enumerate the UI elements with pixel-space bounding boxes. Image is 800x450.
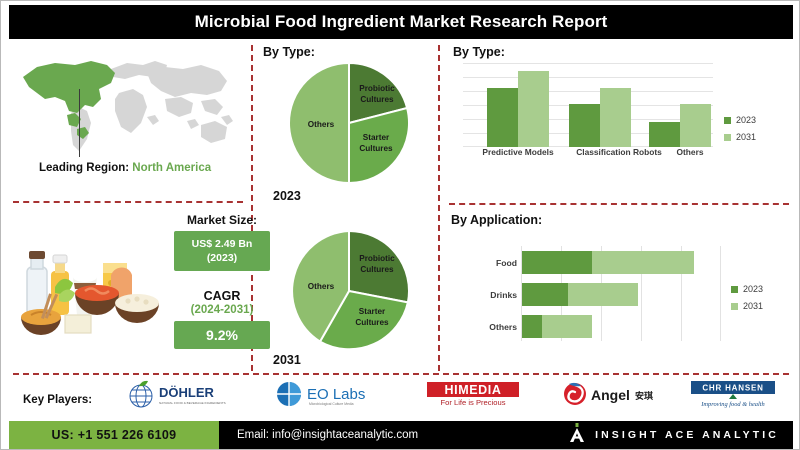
logo-angel-name: Angel	[591, 387, 630, 403]
logo-eo-labs-tagline: Microbiological Culture Media	[309, 402, 354, 406]
bar-classification-robots-2031	[600, 88, 631, 147]
hbar-others-2023	[522, 315, 542, 338]
logo-dohler-tagline: NATURAL FOOD & BEVERAGE INGREDIENTS	[159, 401, 226, 405]
market-size-value-box: US$ 2.49 Bn (2023)	[174, 231, 270, 271]
leading-region: Leading Region: North America	[39, 161, 249, 175]
section-heading-by-type-pie: By Type:	[263, 45, 315, 59]
hbar-category-others: Others	[489, 322, 517, 332]
logo-angel: Angel 安琪	[561, 381, 669, 407]
bar-category-others: Others	[665, 147, 715, 157]
pie-2031-label-others: Others	[308, 282, 335, 291]
bar-others-2031	[680, 104, 711, 147]
legend-label-2031: 2031	[736, 132, 756, 142]
legend-item-2023: 2023	[724, 115, 756, 125]
hbar-food-2031	[592, 251, 694, 274]
brand-name: INSIGHT ACE ANALYTIC	[595, 429, 779, 441]
section-heading-by-application: By Application:	[451, 213, 542, 227]
logo-chr-hansen-tagline: Improving food & health	[700, 401, 765, 408]
key-players-label: Key Players:	[23, 394, 92, 406]
hbar-others-2031	[542, 315, 592, 338]
logo-dohler-name: DÖHLER	[159, 385, 215, 400]
market-size-year: (2023)	[207, 251, 237, 265]
divider-horizontal-left	[13, 201, 243, 203]
leading-region-label: Leading Region:	[39, 162, 129, 174]
bar-classification-robots-2023	[569, 104, 600, 147]
hbar-chart-legend: 2023 2031	[731, 284, 763, 318]
legend-swatch-2023-application	[731, 286, 738, 293]
divider-horizontal-bottom	[13, 373, 789, 375]
section-heading-by-type-bar: By Type:	[453, 45, 505, 59]
logo-angel-tagline: 安琪	[635, 390, 653, 401]
legend-item-2023-application: 2023	[731, 284, 763, 294]
pie-2031-label-starter-2: Cultures	[355, 318, 389, 327]
pie-chart-2031: Probiotic Cultures Starter Cultures Othe…	[287, 229, 411, 353]
legend-item-2031-application: 2031	[731, 301, 763, 311]
legend-label-2023-application: 2023	[743, 284, 763, 294]
page-title: Microbial Food Ingredient Market Researc…	[195, 12, 608, 32]
divider-vertical-right	[438, 45, 440, 371]
bar-category-predictive-models: Predictive Models	[463, 147, 573, 157]
logo-chr-hansen: CHR HANSEN Improving food & health	[685, 379, 785, 409]
pie-2023-label-starter-2: Cultures	[359, 144, 393, 153]
hbar-drinks-2023	[522, 283, 568, 306]
logo-himedia: HIMEDIA For Life is Precious	[425, 379, 525, 409]
bar-chart-by-type	[463, 63, 713, 147]
footer-email-bar: Email: info@insightaceanalytic.com INSIG…	[219, 421, 793, 449]
bar-category-classification-robots: Classification Robots	[559, 147, 679, 157]
logo-chr-hansen-name: CHR HANSEN	[702, 384, 763, 393]
bar-predictive-models-2023	[487, 88, 518, 147]
divider-horizontal-right	[449, 203, 789, 205]
logo-eo-labs-name: EO Labs	[307, 386, 365, 403]
hbar-category-labels: Food Drinks Others	[459, 246, 517, 341]
legend-item-2031: 2031	[724, 132, 756, 142]
pie-2031-label-probiotic-2: Cultures	[360, 265, 394, 274]
hbar-category-drinks: Drinks	[490, 290, 517, 300]
logo-himedia-name: HIMEDIA	[445, 383, 502, 397]
hbar-food-2023	[522, 251, 592, 274]
bar-predictive-models-2031	[518, 71, 549, 147]
market-size-value: US$ 2.49 Bn	[192, 237, 253, 251]
insight-ace-logo-icon	[569, 423, 586, 448]
bar-chart-by-application	[521, 246, 721, 341]
pie-2031-year: 2031	[273, 353, 301, 367]
cagr-value: 9.2%	[206, 327, 238, 343]
bar-chart-legend: 2023 2031	[724, 115, 756, 149]
cagr-years: (2024-2031)	[169, 304, 275, 316]
legend-label-2031-application: 2031	[743, 301, 763, 311]
pie-2023-label-probiotic-2: Cultures	[360, 95, 394, 104]
map-leader-line	[79, 89, 80, 157]
pie-2023-label-starter-1: Starter	[363, 133, 390, 142]
legend-label-2023: 2023	[736, 115, 756, 125]
footer-phone[interactable]: US: +1 551 226 6109	[9, 421, 219, 449]
legend-swatch-2031	[724, 134, 731, 141]
logo-dohler: DÖHLER NATURAL FOOD & BEVERAGE INGREDIEN…	[121, 379, 231, 409]
pie-2023-label-probiotic-1: Probiotic	[359, 84, 395, 93]
report-header: Microbial Food Ingredient Market Researc…	[9, 5, 793, 39]
legend-swatch-2023	[724, 117, 731, 124]
cagr-label: CAGR	[169, 289, 275, 303]
logo-himedia-tagline: For Life is Precious	[441, 398, 506, 407]
leading-region-value: North America	[132, 162, 211, 174]
pie-2023-label-others: Others	[308, 120, 335, 129]
pie-2031-label-starter-1: Starter	[359, 307, 386, 316]
world-map	[15, 49, 243, 161]
brand-lockup: INSIGHT ACE ANALYTIC	[569, 421, 779, 449]
footer-email[interactable]: Email: info@insightaceanalytic.com	[237, 429, 418, 441]
food-ingredients-illustration	[15, 229, 165, 347]
pie-2031-label-probiotic-1: Probiotic	[359, 254, 395, 263]
pie-2023-year: 2023	[273, 189, 301, 203]
cagr-value-box: 9.2%	[174, 321, 270, 349]
logo-eo-labs: EO Labs Microbiological Culture Media	[273, 379, 391, 409]
bar-others-2023	[649, 122, 680, 147]
hbar-drinks-2031	[568, 283, 638, 306]
hbar-category-food: Food	[496, 258, 517, 268]
pie-chart-2023: Probiotic Cultures Starter Cultures Othe…	[287, 61, 411, 185]
legend-swatch-2031-application	[731, 303, 738, 310]
footer-bar: US: +1 551 226 6109 Email: info@insighta…	[9, 421, 793, 449]
bar-chart-category-labels: Predictive Models Classification Robots …	[463, 147, 721, 163]
market-size-label: Market Size:	[169, 213, 275, 227]
